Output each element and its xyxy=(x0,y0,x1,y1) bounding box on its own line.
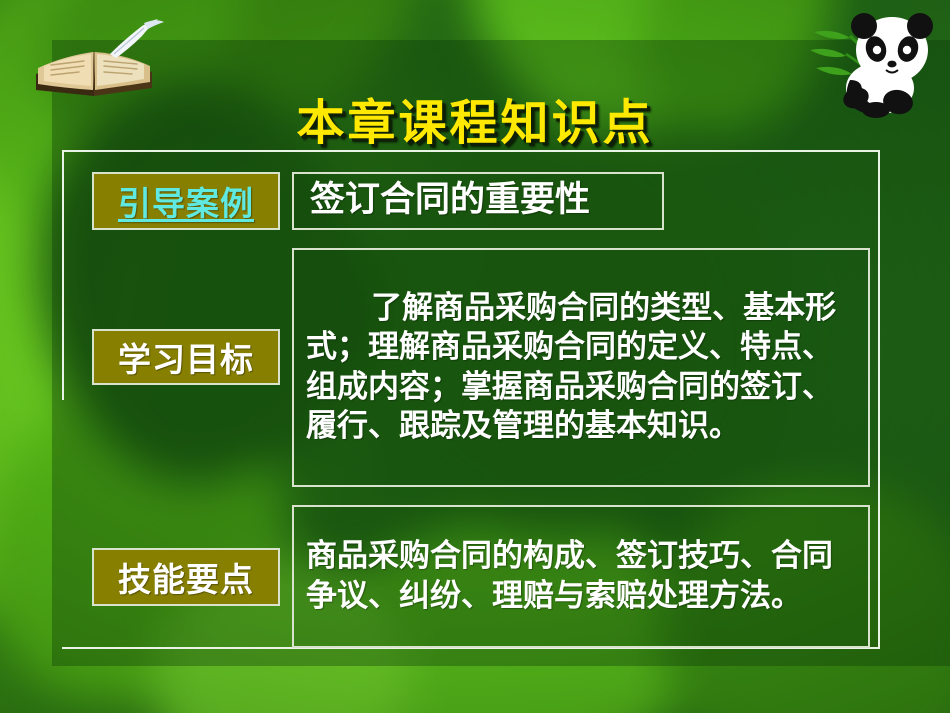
section-content-skill-points: 商品采购合同的构成、签订技巧、合同争议、纠纷、理赔与索赔处理方法。 xyxy=(292,505,870,648)
section-content-guiding-case: 签订合同的重要性 xyxy=(292,172,664,230)
page-title: 本章课程知识点 xyxy=(0,83,950,153)
section-content-learning-objectives: 了解商品采购合同的类型、基本形式；理解商品采购合同的定义、特点、组成内容；掌握商… xyxy=(292,248,870,487)
skill-points-text: 商品采购合同的构成、签订技巧、合同争议、纠纷、理赔与索赔处理方法。 xyxy=(306,538,833,612)
learning-objectives-text: 了解商品采购合同的类型、基本形式；理解商品采购合同的定义、特点、组成内容；掌握商… xyxy=(306,290,836,443)
section-tag-skill-points[interactable]: 技能要点 xyxy=(92,548,280,606)
section-tag-guiding-case[interactable]: 引导案例 xyxy=(92,172,280,230)
content-frame-left-edge xyxy=(62,150,64,400)
presentation-slide: 本章课程知识点 引导案例 签订合同的重要性 学习目标 了解商品采购合同的类型、基… xyxy=(0,0,950,713)
section-tag-learning-objectives[interactable]: 学习目标 xyxy=(92,329,280,385)
